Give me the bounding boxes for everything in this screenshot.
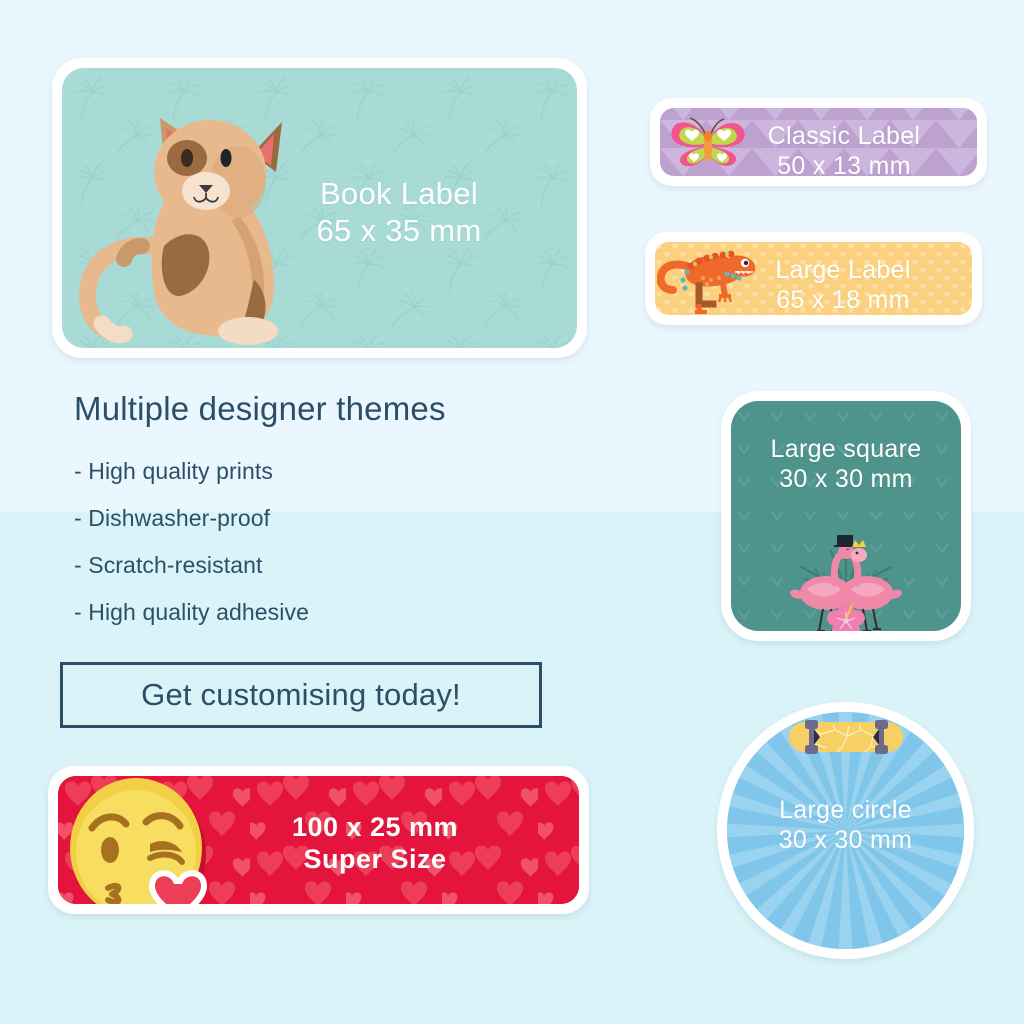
feature-item: - Scratch-resistant bbox=[74, 554, 574, 577]
feature-list: - High quality prints - Dishwasher-proof… bbox=[74, 460, 574, 648]
classic-label-text: Classic Label 50 x 13 mm bbox=[719, 122, 969, 176]
large-label-surface: Large Label 65 x 18 mm bbox=[655, 242, 972, 315]
label-card-book-label[interactable]: Book Label 65 x 35 mm bbox=[52, 58, 587, 358]
feature-item: - Dishwasher-proof bbox=[74, 507, 574, 530]
page-headline: Multiple designer themes bbox=[74, 390, 446, 428]
classic-label-surface: Classic Label 50 x 13 mm bbox=[660, 108, 977, 176]
cta-label: Get customising today! bbox=[141, 677, 461, 713]
feature-item: - High quality adhesive bbox=[74, 601, 574, 624]
feature-item: - High quality prints bbox=[74, 460, 574, 483]
label-card-super-size[interactable]: 100 x 25 mm Super Size bbox=[48, 766, 589, 914]
book-label-text: Book Label 65 x 35 mm bbox=[249, 176, 549, 249]
super-size-surface: 100 x 25 mm Super Size bbox=[58, 776, 579, 904]
poster-canvas: Book Label 65 x 35 mm bbox=[0, 0, 1024, 1024]
large-circle-surface: Large circle 30 x 30 mm bbox=[727, 712, 964, 949]
super-size-text: 100 x 25 mm Super Size bbox=[245, 812, 505, 876]
large-label-text: Large Label 65 x 18 mm bbox=[718, 256, 968, 315]
label-card-large-circle[interactable]: Large circle 30 x 30 mm bbox=[717, 702, 974, 959]
label-card-large-square[interactable]: Large square 30 x 30 mm bbox=[721, 391, 971, 641]
book-label-surface: Book Label 65 x 35 mm bbox=[62, 68, 577, 348]
label-card-large-label[interactable]: Large Label 65 x 18 mm bbox=[645, 232, 982, 325]
large-square-surface: Large square 30 x 30 mm bbox=[731, 401, 961, 631]
large-circle-text: Large circle 30 x 30 mm bbox=[727, 796, 964, 855]
large-square-text: Large square 30 x 30 mm bbox=[731, 435, 961, 494]
label-card-classic-label[interactable]: Classic Label 50 x 13 mm bbox=[650, 98, 987, 186]
skateboard-illustration bbox=[787, 718, 905, 758]
cta-button[interactable]: Get customising today! bbox=[60, 662, 542, 728]
kiss-emoji-illustration bbox=[64, 776, 224, 904]
flamingos-illustration bbox=[779, 531, 913, 631]
